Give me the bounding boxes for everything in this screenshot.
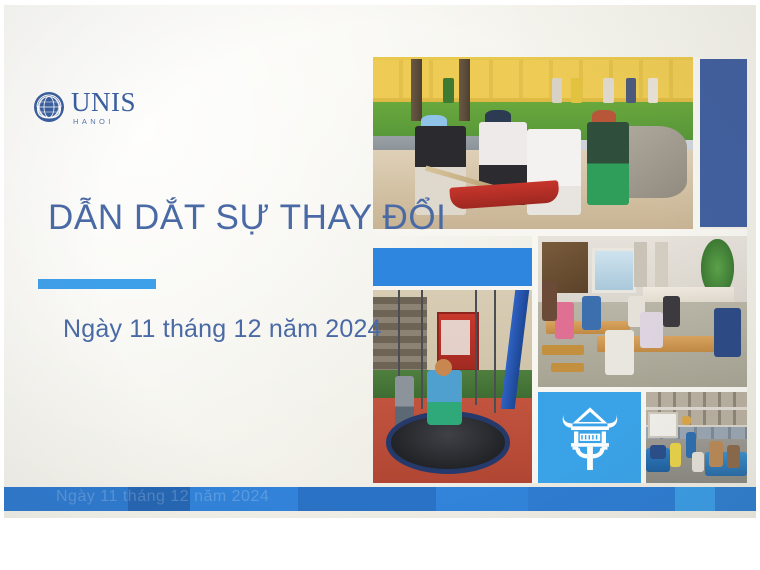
logo-wordmark: UNIS	[71, 89, 136, 116]
pagoda-icon-tile	[538, 392, 641, 483]
un-emblem-icon	[33, 91, 65, 123]
photo-classroom	[538, 236, 747, 387]
photo-swing	[373, 289, 532, 483]
banner-ghost-text: Ngày 11 tháng 12 năm 2024	[56, 488, 269, 506]
title-accent-rule	[38, 279, 156, 289]
frame-edge-right	[756, 0, 760, 570]
frame-edge-left	[0, 0, 4, 570]
one-pillar-pagoda-icon	[551, 401, 627, 474]
logo-subtitle: HANOI	[73, 118, 114, 126]
blue-block-tall	[700, 59, 747, 227]
frame-edge-top	[0, 0, 760, 5]
slide-title: DẪN DẮT SỰ THAY ĐỔI	[48, 198, 447, 238]
photo-library	[646, 392, 747, 483]
slide-date: Ngày 11 tháng 12 năm 2024	[63, 315, 382, 344]
slide-canvas: UNIS HANOI DẪN DẮT SỰ THAY ĐỔI Ngày 11 t…	[0, 0, 760, 570]
bottom-banner: Ngày 11 tháng 12 năm 2024	[0, 487, 760, 511]
blue-block-wide	[373, 248, 532, 286]
unis-hanoi-logo: UNIS HANOI	[33, 89, 136, 126]
frame-edge-bottom	[0, 518, 760, 570]
